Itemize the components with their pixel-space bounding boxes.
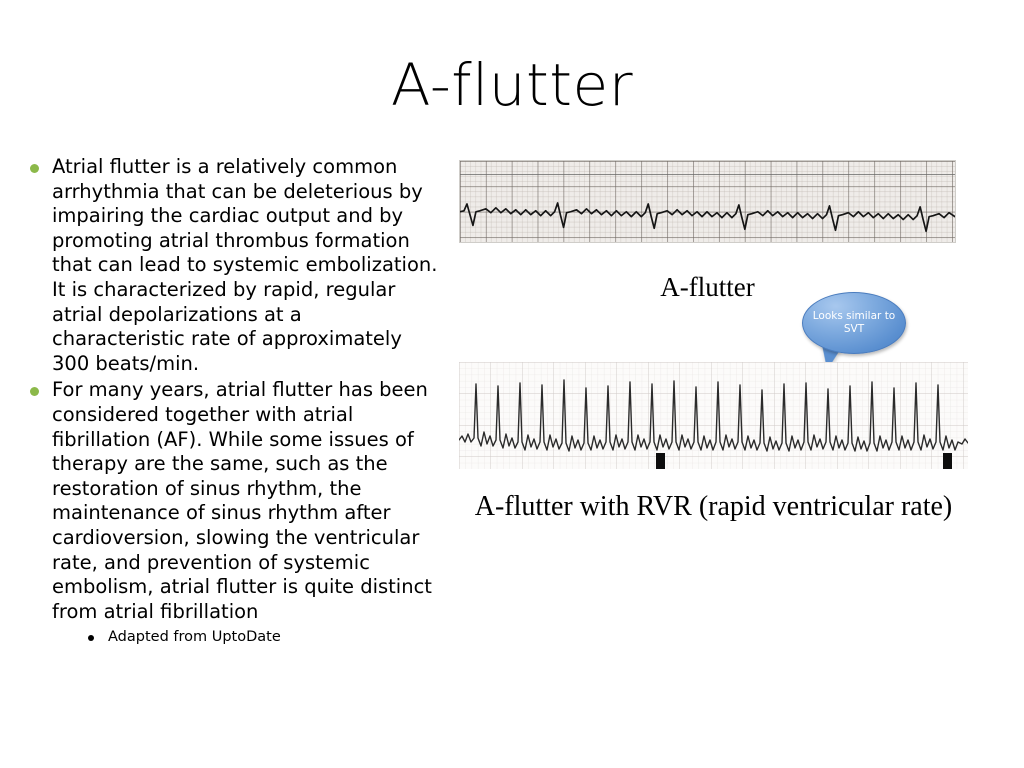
black-dot-bullet-icon (88, 628, 108, 641)
figure-caption-a-flutter-rvr: A-flutter with RVR (rapid ventricular ra… (459, 490, 968, 524)
green-dot-bullet-icon (30, 378, 52, 396)
ecg-event-marker (656, 453, 665, 469)
ecg-strip-a-flutter-rvr (459, 362, 968, 469)
ecg-strip-a-flutter (459, 160, 956, 243)
page-title: A-flutter (0, 52, 1024, 118)
ecg-event-marker (943, 453, 952, 469)
bullet-text-1: Atrial flutter is a relatively common ar… (52, 155, 438, 376)
source-attribution: Adapted from UptoDate (108, 628, 281, 647)
callout-bubble-body: Looks similar to SVT (802, 292, 906, 354)
green-dot-bullet-icon (30, 155, 52, 173)
callout-text: Looks similar to SVT (803, 310, 905, 336)
ecg-trace-a-flutter-rvr (459, 362, 968, 469)
list-item: For many years, atrial flutter has been … (30, 378, 438, 624)
bullet-list: Atrial flutter is a relatively common ar… (30, 155, 438, 647)
callout-bubble: Looks similar to SVT (802, 292, 906, 354)
list-item-sub: Adapted from UptoDate (88, 628, 438, 647)
bullet-text-2: For many years, atrial flutter has been … (52, 378, 438, 624)
list-item: Atrial flutter is a relatively common ar… (30, 155, 438, 376)
ecg-trace-a-flutter (460, 161, 955, 242)
